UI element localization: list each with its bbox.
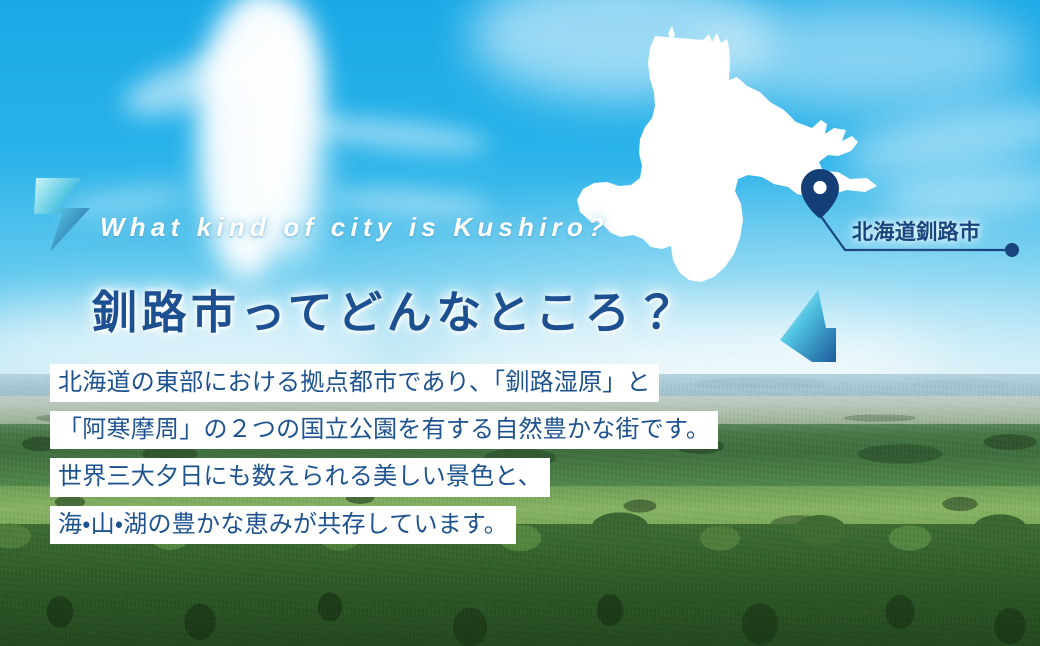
leader-endpoint-dot bbox=[1005, 243, 1019, 257]
heading-japanese: 釧路市ってどんなところ？ bbox=[92, 276, 684, 341]
map-label-kushiro: 北海道釧路市 bbox=[852, 216, 981, 246]
copy-line: 世界三大夕日にも数えられる美しい景色と、 bbox=[50, 458, 550, 496]
decor-arrow-left bbox=[32, 176, 94, 254]
copy-line: 海・山・湖の豊かな恵みが共存しています。 bbox=[50, 506, 516, 544]
heading-english: What kind of city is Kushiro? bbox=[100, 212, 609, 243]
kushiro-hero-banner: 北海道釧路市 bbox=[0, 0, 1040, 646]
decor-arrow-right bbox=[778, 288, 838, 364]
map-pin-icon bbox=[801, 169, 839, 218]
body-copy: 北海道の東部における拠点都市であり、「釧路湿原」と 「阿寒摩周」の２つの国立公園… bbox=[50, 364, 718, 544]
copy-line: 北海道の東部における拠点都市であり、「釧路湿原」と bbox=[50, 364, 659, 402]
copy-line: 「阿寒摩周」の２つの国立公園を有する自然豊かな街です。 bbox=[50, 411, 718, 449]
arrow-flash-left-icon bbox=[34, 178, 90, 252]
arrow-flash-right-icon bbox=[780, 290, 836, 362]
